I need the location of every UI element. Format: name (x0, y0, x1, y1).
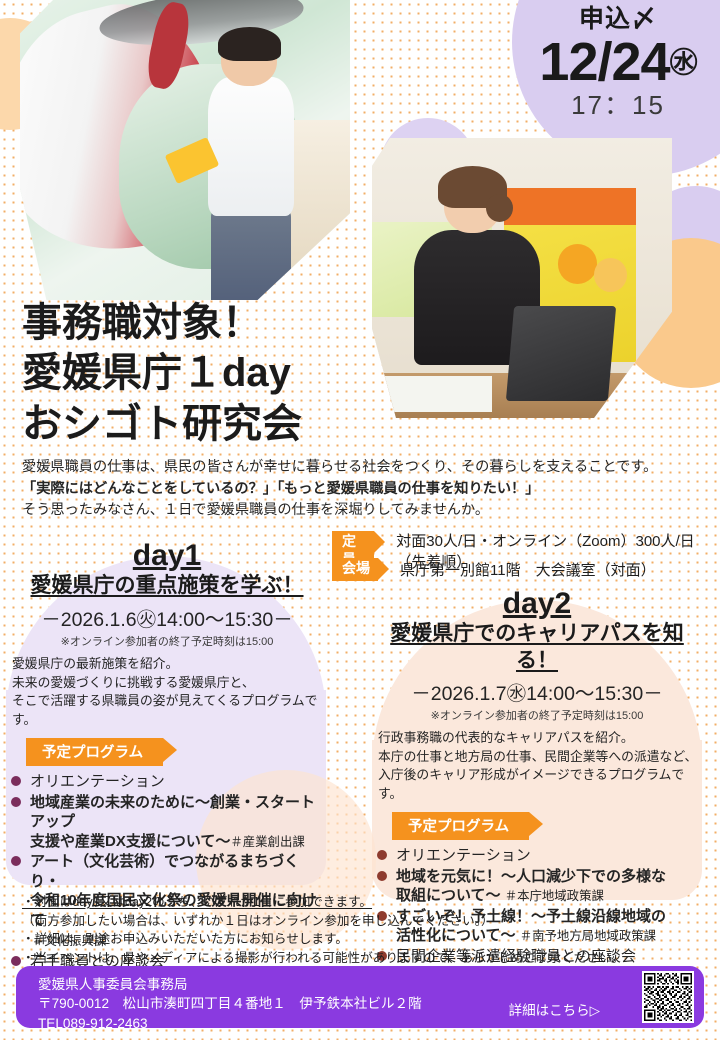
day2-item-0-text: オリエンテーション (396, 847, 531, 864)
photo-shape (504, 188, 636, 224)
day1-title: day1 (8, 540, 326, 572)
photo-shape (558, 244, 597, 283)
photo-shape (506, 306, 616, 401)
day1-desc-line2: 未来の愛媛づくりに挑戦する愛媛県庁と、 (12, 674, 326, 693)
bullet-icon (11, 956, 21, 966)
day2-subtitle: 愛媛県庁でのキャリアパスを知る！ (374, 621, 700, 674)
bullet-icon (377, 871, 387, 881)
venue-row: 会場 県庁第一別館11階 大会議室（対面） (332, 558, 656, 581)
qr-code-icon (644, 973, 692, 1021)
day1-subtitle: 愛媛県庁の重点施策を学ぶ！ (8, 573, 326, 599)
bullet-icon (377, 850, 387, 860)
page-title: 事務職対象！ 愛媛県庁１day おシゴト研究会 (22, 298, 302, 449)
day2-desc-line2: 本庁の仕事と地方局の仕事、民間企業等への派遣など、 (378, 748, 700, 767)
day1-program-badge: 予定プログラム (26, 738, 163, 766)
page-title-line1: 事務職対象！ (22, 298, 302, 348)
day1-program-item: オリエンテーション (8, 772, 326, 792)
day2-title: day2 (374, 588, 700, 620)
footer-org: 愛媛県人事委員会事務局 (38, 975, 422, 994)
note-line-2: ・詳細は、別途お申込みいただいた方にお知らせします。 (22, 930, 624, 949)
deadline-label: 申込〆 (520, 6, 716, 34)
day1-online-note: ※オンライン参加者の終了予定時刻は15:00 (8, 633, 326, 649)
day1-program-item: 地域産業の未来のために～創業・スタートアップ 支援や産業DX支援について～＃産業… (8, 793, 326, 852)
day1-desc-line1: 愛媛県庁の最新施策を紹介。 (12, 655, 326, 674)
day2-desc-line1: 行政事務職の代表的なキャリアパスを紹介。 (378, 729, 700, 748)
lead-line3: そう思ったみなさん、１日で愛媛県職員の仕事を深堀りしてみませんか。 (22, 500, 657, 522)
photo-shape (486, 194, 513, 222)
bullet-icon (11, 856, 21, 866)
bullet-icon (11, 797, 21, 807)
note-line-1: （両方参加したい場合は、いずれか１日はオンライン参加を申し込んでください。） (22, 912, 624, 931)
page-title-line3: おシゴト研究会 (22, 399, 302, 449)
lead-line1: 愛媛県職員の仕事は、県民の皆さんが幸せに暮らせる社会をつくり、その暮らしを支える… (22, 457, 657, 479)
footer-tel: TEL089-912-2463 (38, 1014, 422, 1033)
day2-program-item: オリエンテーション (374, 846, 700, 866)
day1-desc-line3: そこで活躍する県職員の姿が見えてくるプログラムです。 (12, 692, 326, 729)
day1-item-1-text: 地域産業の未来のために～創業・スタートアップ (30, 794, 315, 831)
note-line-3: ・当イベントは、県やメディアによる撮影が行われる可能性がありますので、あらかじめ… (22, 949, 624, 968)
day1-item-2-text: アート（文化芸術）でつながるまちづくり・ (30, 853, 299, 890)
lead-line2: 「実際にはどんなことをしているの？」「もっと愛媛県職員の仕事を知りたい！」 (22, 479, 657, 501)
day2-program-badge: 予定プログラム (392, 812, 529, 840)
photo-shape (594, 258, 627, 292)
day1-item-0-text: オリエンテーション (30, 773, 165, 790)
venue-tag: 会場 (332, 558, 378, 581)
footer-address: 〒790-0012 松山市湊町四丁目４番地１ 伊予鉄本社ビル２階 (38, 994, 422, 1013)
photo-shape (378, 376, 492, 412)
bullet-icon (11, 776, 21, 786)
footer-detail-link[interactable]: 詳細はこちら▷ (509, 999, 600, 1019)
footer-address-block: 愛媛県人事委員会事務局 〒790-0012 松山市湊町四丁目４番地１ 伊予鉄本社… (38, 975, 422, 1033)
day2-description: 行政事務職の代表的なキャリアパスを紹介。 本庁の仕事と地方局の仕事、民間企業等へ… (374, 729, 700, 803)
venue-value: 県庁第一別館11階 大会議室（対面） (400, 559, 656, 580)
deadline-weekday: ㊌ (670, 47, 697, 78)
lead-paragraph: 愛媛県職員の仕事は、県民の皆さんが幸せに暮らせる社会をつくり、その暮らしを支える… (22, 457, 657, 522)
page-title-line2: 愛媛県庁１day (22, 348, 302, 398)
deadline-date: 12/24㊌ (520, 34, 716, 91)
day1-item-1-text2: 支援や産業DX支援について～ (30, 833, 230, 850)
deadline-date-value: 12/24 (539, 32, 669, 92)
footer-contact-bar: 愛媛県人事委員会事務局 〒790-0012 松山市湊町四丁目４番地１ 伊予鉄本社… (16, 966, 704, 1028)
qr-code[interactable] (642, 971, 694, 1023)
photo-shape (218, 27, 281, 61)
note-line-0: ・対面はday1又はday2のうち、いずれか1日に参加できます。 (22, 893, 624, 912)
photo-helicopter-inspection (20, 0, 350, 300)
day1-item-1-hash: ＃産業創出課 (230, 835, 304, 849)
notes-block: ・対面はday1又はday2のうち、いずれか1日に参加できます。 （両方参加した… (22, 893, 624, 968)
day2-item-1-text: 地域を元気に！～人口減少下での多様な (396, 868, 666, 885)
day2-date: －2026.1.7㊌14:00～15:30－ (374, 683, 700, 706)
deadline-time: 17：15 (520, 90, 716, 121)
application-deadline-block: 申込〆 12/24㊌ 17：15 (520, 6, 716, 121)
day1-description: 愛媛県庁の最新施策を紹介。 未来の愛媛づくりに挑戦する愛媛県庁と、 そこで活躍す… (8, 655, 326, 729)
photo-shape (208, 77, 294, 217)
day2-online-note: ※オンライン参加者の終了予定時刻は15:00 (374, 707, 700, 723)
day2-desc-line3: 入庁後のキャリア形成がイメージできるプログラムです。 (378, 766, 700, 803)
day1-date: －2026.1.6㊋14:00～15:30－ (8, 609, 326, 632)
